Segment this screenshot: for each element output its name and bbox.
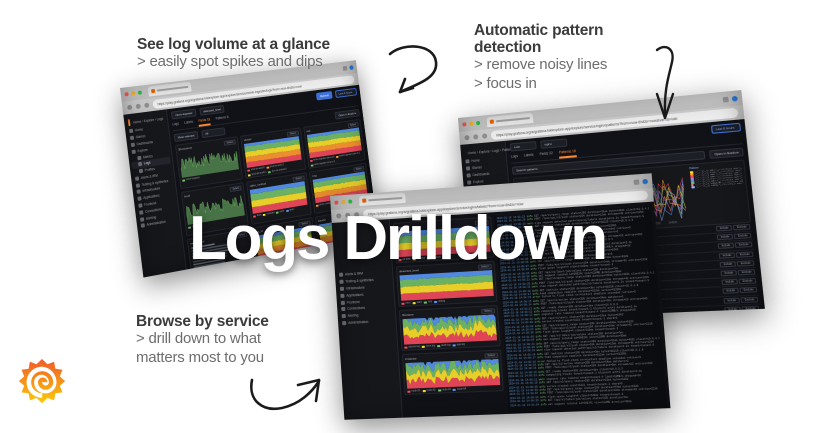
grafana-logo-icon xyxy=(465,150,466,157)
profile-icon[interactable] xyxy=(732,95,738,101)
metrics-icon xyxy=(137,155,141,160)
grafana-logo-icon xyxy=(128,119,131,126)
tab-labels[interactable]: Labels xyxy=(184,120,194,129)
legend-label: error xyxy=(405,301,410,304)
annotation-log-volume: See log volume at a glance > easily spot… xyxy=(137,36,330,72)
logs-icon xyxy=(138,162,142,167)
annotation-browse-by-service: Browse by service > drill down to what m… xyxy=(136,313,311,367)
legend-item[interactable]: access.log xyxy=(404,345,420,349)
profiles-icon xyxy=(139,169,143,174)
annotation-pattern-detection: Automatic pattern detection > remove noi… xyxy=(474,22,654,93)
time-picker[interactable]: Last 6 hours xyxy=(711,123,741,134)
tab-fields[interactable]: Fields 22 xyxy=(539,151,553,160)
include-button[interactable]: Include xyxy=(724,297,740,303)
exclude-button[interactable]: Exclude xyxy=(737,260,754,266)
profile-icon[interactable] xyxy=(349,65,354,70)
extensions-icon[interactable] xyxy=(634,179,640,185)
open-in-explore-button[interactable]: Open in Explore xyxy=(710,148,744,159)
sidebar-item-label: Frontend xyxy=(347,300,360,305)
page-title: Logs Drilldown xyxy=(189,208,606,270)
layout-select[interactable]: All xyxy=(201,127,225,138)
browser-icon xyxy=(138,203,142,208)
actions-cell: IncludeExclude xyxy=(723,304,760,315)
field-variable[interactable]: detected_level xyxy=(199,105,225,116)
compass-icon xyxy=(132,149,136,154)
annotation-line: > drill down to what matters most to you xyxy=(136,330,311,367)
include-button[interactable]: Include xyxy=(717,234,733,240)
include-button[interactable]: Include xyxy=(720,261,736,267)
panel[interactable]: instanceSelectnode-01node-02node-03node-… xyxy=(402,349,504,394)
legend-label: node-03 xyxy=(442,388,451,391)
cog-icon xyxy=(342,321,346,325)
actions-cell: IncludeExclude xyxy=(724,313,762,321)
include-button[interactable]: Include xyxy=(721,270,737,276)
panel[interactable]: filenameSelectaccess.logerror.logaudit.l… xyxy=(399,305,501,351)
forward-icon[interactable] xyxy=(136,104,141,110)
apps-icon xyxy=(137,196,141,201)
legend-item[interactable]: error.log xyxy=(422,344,435,348)
sidebar-item-label: Home xyxy=(135,128,144,133)
service-variable[interactable]: nginx xyxy=(540,138,567,149)
extensions-icon[interactable] xyxy=(343,65,348,70)
annotation-heading: Automatic pattern detection xyxy=(474,22,654,56)
exclude-button[interactable]: Exclude xyxy=(739,278,756,284)
bell-icon xyxy=(339,273,343,277)
sidebar-item-label: Logs xyxy=(144,161,151,166)
tab-labels[interactable]: Labels xyxy=(524,153,534,162)
legend-label: audit.log xyxy=(441,344,451,348)
legend-label: app.log xyxy=(457,343,465,346)
reload-icon[interactable] xyxy=(482,133,487,138)
grafana-logo xyxy=(18,358,66,408)
curved-arrow-down-left-icon xyxy=(386,40,444,102)
exclude-button[interactable]: Exclude xyxy=(743,315,760,321)
tab-logs[interactable]: Logs xyxy=(172,122,179,131)
legend-item[interactable]: node-04 xyxy=(453,387,466,391)
minimize-icon[interactable] xyxy=(131,91,135,95)
legend-label: node-02 xyxy=(426,389,435,392)
forward-icon[interactable] xyxy=(473,134,478,139)
tab-patterns[interactable]: Patterns 18 xyxy=(559,149,577,159)
bell-icon xyxy=(135,176,139,181)
exclude-button[interactable]: Exclude xyxy=(733,224,750,231)
back-icon[interactable] xyxy=(127,105,132,111)
legend-item[interactable]: dev-us-central-0 xyxy=(268,168,287,174)
x-tick: 14:45:00 xyxy=(669,222,678,225)
annotation-heading: Browse by service xyxy=(136,313,311,330)
legend-item[interactable]: node-03 xyxy=(438,388,451,392)
sidebar-item-label: Infrastructure xyxy=(346,285,365,290)
plug-icon xyxy=(341,307,345,311)
chart-legend: Pattern<_> - - [<_>] "GET <_> HTTP/1.1" … xyxy=(687,163,747,223)
select-button[interactable]: Select xyxy=(484,352,498,358)
sidebar-item-label: Testing & synthetics xyxy=(345,278,373,284)
favicon-icon xyxy=(362,198,366,202)
legend-swatch xyxy=(336,155,339,157)
log-timestamp: 2024-01-18 14:08:04 xyxy=(510,403,541,407)
annotation-line: > remove noisy lines xyxy=(474,56,654,75)
maximize-icon[interactable] xyxy=(476,121,480,125)
include-button[interactable]: Include xyxy=(725,306,741,312)
legend-label: dev-us-central-0 xyxy=(272,168,287,173)
dashboard-icon xyxy=(131,143,135,148)
legend-item[interactable]: error xyxy=(401,301,410,305)
legend-item[interactable]: debug xyxy=(434,299,445,303)
legend-swatch xyxy=(310,159,313,161)
alert-icon xyxy=(342,314,346,318)
server-icon xyxy=(137,190,141,195)
tab-fields[interactable]: Fields 18 xyxy=(198,117,211,126)
legend-swatch xyxy=(413,302,416,304)
legend-swatch xyxy=(437,345,440,347)
home-icon xyxy=(129,129,133,133)
legend-label: mimir-ingester xyxy=(186,176,200,181)
dashboard-icon xyxy=(466,173,470,177)
cog-icon xyxy=(141,224,145,229)
sidebar-item-label: Administration xyxy=(348,320,368,325)
legend-swatch xyxy=(266,166,269,168)
legend-label: mimir-ingester-zone-c-2 xyxy=(314,160,335,166)
legend-swatch xyxy=(407,390,410,392)
legend-swatch xyxy=(401,302,404,304)
datasource-variable[interactable]: Loki xyxy=(510,141,537,151)
legend-label: debug xyxy=(438,299,445,302)
legend-swatch xyxy=(422,345,425,347)
include-button[interactable]: Include xyxy=(719,252,735,258)
exclude-button[interactable]: Exclude xyxy=(736,251,753,257)
exclude-button[interactable]: Exclude xyxy=(742,305,759,311)
panel[interactable]: podSelectmimir-ingester-zone-a-0mimir-in… xyxy=(303,119,366,169)
minimize-icon[interactable] xyxy=(469,122,473,126)
sort-select[interactable]: Most relevant xyxy=(174,131,199,142)
alert-icon xyxy=(140,217,144,222)
legend-item[interactable]: node-01 xyxy=(407,389,420,393)
sidebar-item-label: Explore xyxy=(473,179,484,184)
sidebar-item-label: Home xyxy=(471,159,480,164)
exclude-button[interactable]: Exclude xyxy=(741,296,758,302)
close-icon[interactable] xyxy=(462,122,466,126)
legend-label: node-04 xyxy=(457,387,466,390)
sidebar-item-label: Starred xyxy=(472,165,483,170)
legend-swatch xyxy=(248,174,251,176)
legend-swatch xyxy=(310,164,313,166)
panel[interactable]: $hostnameSelectmimir-ingester xyxy=(175,136,243,189)
time-picker[interactable]: Last 6 hours xyxy=(335,88,357,98)
exclude-button[interactable]: Exclude xyxy=(735,242,752,248)
favicon-icon xyxy=(151,89,155,93)
panel[interactable]: clusterSelectprod-us-east-0prod-eu-west-… xyxy=(240,127,305,178)
browser-icon xyxy=(341,300,345,304)
server-icon xyxy=(340,287,344,291)
sidebar-item-label: Alerting xyxy=(348,313,359,318)
annotation-line: > focus in xyxy=(474,75,654,94)
compass-icon xyxy=(467,180,471,184)
legend-swatch xyxy=(438,389,441,391)
annotation-line: > easily spot spikes and dips xyxy=(137,53,330,72)
sidebar-item-label: Administration xyxy=(146,220,166,227)
sidebar-item-label: Applications xyxy=(346,292,363,297)
legend-swatch xyxy=(268,171,271,173)
star-icon xyxy=(130,136,134,140)
legend-item[interactable]: audit.log xyxy=(437,344,451,348)
service-variable[interactable]: mimir-ingester xyxy=(171,109,197,120)
legend-label: node-01 xyxy=(411,389,420,392)
curved-arrow-up-right-icon xyxy=(246,372,326,420)
sidebar-item-label: Starred xyxy=(136,134,146,139)
refresh-button[interactable]: Refresh xyxy=(316,91,332,100)
legend-swatch xyxy=(424,301,427,303)
extensions-icon[interactable] xyxy=(723,96,729,102)
panel-plot xyxy=(405,358,500,389)
plug-icon xyxy=(139,210,143,215)
include-button[interactable]: Include xyxy=(716,225,732,231)
maximize-icon[interactable] xyxy=(138,90,142,94)
include-button[interactable]: Include xyxy=(722,279,738,285)
legend-item[interactable]: node-02 xyxy=(422,389,435,393)
hook-arrow-down-icon xyxy=(648,44,682,122)
legend-label: error.log xyxy=(426,344,435,347)
legend-swatch xyxy=(422,390,425,392)
tab-logs[interactable]: Logs xyxy=(511,154,519,163)
favicon-icon xyxy=(490,120,494,124)
exclude-button[interactable]: Exclude xyxy=(734,233,751,239)
legend-swatch xyxy=(182,179,185,181)
legend-item[interactable]: app.log xyxy=(453,343,465,347)
legend-swatch xyxy=(453,344,456,346)
breadcrumb: Home › Explore › Logs xyxy=(133,116,164,124)
legend-swatch xyxy=(404,346,407,348)
home-icon xyxy=(465,160,469,164)
back-icon[interactable] xyxy=(464,135,469,140)
legend-item[interactable]: prod-gb-south-1 xyxy=(248,171,267,177)
apps-icon xyxy=(340,293,344,297)
flask-icon xyxy=(339,280,343,284)
sidebar-item-label: Connections xyxy=(347,306,365,311)
reload-icon[interactable] xyxy=(144,103,149,109)
legend-label: warn xyxy=(417,301,423,304)
sidebar-item-administration[interactable]: Administration xyxy=(340,317,394,327)
legend-swatch xyxy=(691,186,694,188)
legend-swatch xyxy=(453,388,456,390)
flask-icon xyxy=(136,183,140,188)
legend-label: prod-gb-south-1 xyxy=(252,171,267,176)
include-button[interactable]: Include xyxy=(718,243,734,249)
tab-patterns[interactable]: Patterns 8 xyxy=(215,115,229,124)
browser-tab[interactable] xyxy=(487,113,534,128)
legend-swatch xyxy=(434,300,437,302)
legend-swatch xyxy=(247,169,250,171)
star-icon xyxy=(466,166,470,170)
legend-item[interactable]: info xyxy=(424,300,432,303)
legend-label: info xyxy=(428,300,432,303)
exclude-button[interactable]: Exclude xyxy=(740,287,757,293)
select-button[interactable]: Select xyxy=(481,308,495,314)
poster-canvas: https://play.grafana.org/a/grafana-lokie… xyxy=(0,0,840,433)
panel-plot xyxy=(402,313,497,344)
include-button[interactable]: Include xyxy=(723,288,739,294)
legend-item[interactable]: warn xyxy=(413,301,423,305)
legend-label: access.log xyxy=(408,345,420,349)
include-button[interactable]: Include xyxy=(725,315,741,320)
open-in-explore-button[interactable]: Open in Explore xyxy=(335,109,360,120)
exclude-button[interactable]: Exclude xyxy=(738,269,755,275)
profile-icon[interactable] xyxy=(642,178,648,184)
annotation-heading: See log volume at a glance xyxy=(137,36,330,53)
close-icon[interactable] xyxy=(124,92,128,96)
panel-plot xyxy=(399,269,493,301)
